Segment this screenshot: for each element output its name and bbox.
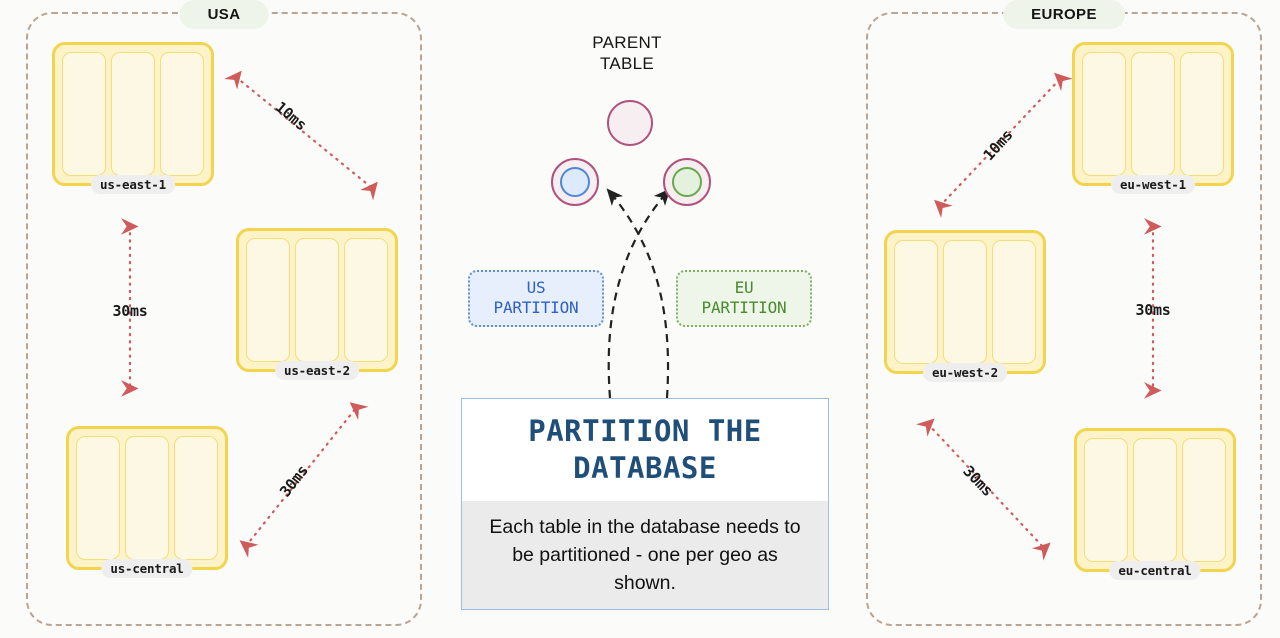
rack-us-central[interactable]: us-central [66, 426, 228, 570]
us-partition-tag[interactable]: US PARTITION [468, 270, 604, 327]
rack-us-east-1[interactable]: us-east-1 [52, 42, 214, 186]
us-partition-tag-line1: US [474, 278, 598, 298]
parent-table-title-line2: TABLE [527, 54, 727, 75]
latency-label-eu-30ms-vertical: 30ms [1136, 301, 1171, 319]
callout-to-us-partition-curve [608, 190, 668, 398]
rack-bay [76, 436, 120, 560]
callout-title: PARTITION THE DATABASE [462, 399, 828, 501]
us-partition-tag-line2: PARTITION [474, 298, 598, 318]
us-partition-node[interactable] [551, 158, 599, 206]
region-badge-europe: EUROPE [1003, 0, 1125, 29]
parent-table-node[interactable] [607, 100, 653, 146]
rack-bay [160, 52, 204, 176]
rack-label: us-central [101, 559, 192, 578]
eu-partition-tag-line2: PARTITION [682, 298, 806, 318]
rack-bay [246, 238, 290, 362]
parent-table-title: PARENT TABLE [527, 33, 727, 74]
rack-bay [1131, 52, 1175, 176]
eu-partition-node[interactable] [663, 158, 711, 206]
rack-eu-central[interactable]: eu-central [1074, 428, 1236, 572]
callout-title-line1: PARTITION THE [474, 413, 816, 450]
callout-to-eu-partition-curve [609, 190, 669, 398]
rack-bay [174, 436, 218, 560]
diagram-canvas: USA us-east-1 us-east-2 us-central 10ms … [0, 0, 1280, 638]
rack-bay [943, 240, 987, 364]
latency-label-usa-30ms-vertical: 30ms [113, 302, 148, 320]
rack-bay [125, 436, 169, 560]
rack-us-east-2[interactable]: us-east-2 [236, 228, 398, 372]
rack-label: eu-central [1109, 561, 1200, 580]
rack-label: eu-west-2 [923, 363, 1007, 382]
rack-bay [992, 240, 1036, 364]
rack-label: us-east-2 [275, 361, 359, 380]
rack-bay [111, 52, 155, 176]
rack-eu-west-1[interactable]: eu-west-1 [1072, 42, 1234, 186]
rack-bay [1082, 52, 1126, 176]
rack-eu-west-2[interactable]: eu-west-2 [884, 230, 1046, 374]
rack-bay [1180, 52, 1224, 176]
rack-bay [1182, 438, 1226, 562]
rack-bay [1133, 438, 1177, 562]
eu-partition-node-inner [672, 167, 702, 197]
rack-bay [62, 52, 106, 176]
rack-label: us-east-1 [91, 175, 175, 194]
callout-title-line2: DATABASE [474, 450, 816, 487]
rack-bay [295, 238, 339, 362]
parent-table-title-line1: PARENT [527, 33, 727, 54]
rack-bay [1084, 438, 1128, 562]
callout-body: Each table in the database needs to be p… [462, 501, 828, 610]
rack-label: eu-west-1 [1111, 175, 1195, 194]
rack-bay [344, 238, 388, 362]
rack-bay [894, 240, 938, 364]
eu-partition-tag-line1: EU [682, 278, 806, 298]
callout-box: PARTITION THE DATABASE Each table in the… [461, 398, 829, 610]
us-partition-node-inner [560, 167, 590, 197]
eu-partition-tag[interactable]: EU PARTITION [676, 270, 812, 327]
region-badge-usa: USA [180, 0, 269, 29]
